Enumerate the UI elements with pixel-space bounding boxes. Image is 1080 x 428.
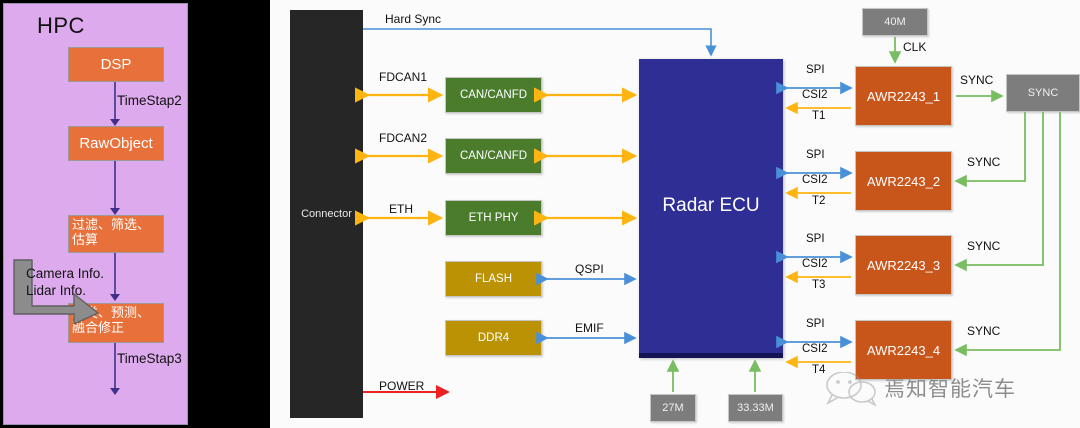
label-sync-3: SYNC [967, 239, 1000, 253]
label-emif: EMIF [575, 321, 604, 335]
wechat-logo-icon [822, 372, 878, 406]
block-awr2243-1: AWR2243_1 [855, 66, 952, 126]
edge-cluster-out-arrow [110, 388, 120, 395]
block-ddr4-label: DDR4 [478, 332, 509, 344]
edge-filter-cluster-arrow [110, 294, 120, 301]
label-fdcan2: FDCAN2 [379, 131, 427, 145]
label-sync-2: SYNC [967, 155, 1000, 169]
hpc-block-rawobject-label: RawObject [79, 135, 152, 152]
edge-dsp-rawobject-arrow [110, 119, 120, 126]
label-camera-info: Camera Info. [26, 266, 104, 281]
edge-rawobject-filter-arrow [110, 208, 120, 215]
block-awr2243-2: AWR2243_2 [855, 151, 952, 211]
block-awr2243-4-label: AWR2243_4 [867, 343, 940, 358]
hpc-panel: HPC DSP TimeStap2 RawObject 过滤、筛选、估算 聚类、… [3, 3, 188, 425]
edge-rawobject-filter [114, 161, 116, 211]
diagram-canvas: HPC DSP TimeStap2 RawObject 过滤、筛选、估算 聚类、… [0, 0, 1080, 428]
hpc-block-filter-label: 过滤、筛选、估算 [72, 217, 150, 247]
block-flash-label: FLASH [475, 273, 512, 285]
block-flash: FLASH [445, 261, 542, 297]
label-spi-2: SPI [806, 149, 825, 161]
edge-filter-cluster [114, 253, 116, 297]
label-sync-4: SYNC [967, 324, 1000, 338]
radar-ecu-block: Radar ECU [639, 59, 783, 358]
label-power: POWER [379, 379, 424, 393]
hpc-block-filter: 过滤、筛选、估算 [68, 215, 164, 253]
label-t2: T2 [812, 195, 825, 207]
label-t3: T3 [812, 279, 825, 291]
label-clk: CLK [903, 40, 926, 54]
radar-ecu-label: Radar ECU [662, 195, 759, 217]
label-spi-1: SPI [806, 64, 825, 76]
edge-label-timestap3: TimeStap3 [117, 351, 182, 366]
label-spi-3: SPI [806, 233, 825, 245]
block-osc-33m: 33.33M [728, 394, 783, 422]
block-osc-27m-label: 27M [662, 402, 683, 414]
block-osc-33m-label: 33.33M [737, 402, 774, 414]
label-csi2-2: CSI2 [802, 174, 828, 186]
connector-label: Connector [301, 208, 352, 220]
watermark-text: 焉知智能汽车 [884, 373, 1016, 403]
block-awr2243-4: AWR2243_4 [855, 320, 952, 380]
label-qspi: QSPI [575, 262, 604, 276]
block-sync-hub-label: SYNC [1028, 87, 1059, 99]
label-sync-1: SYNC [960, 73, 993, 87]
label-spi-4: SPI [806, 318, 825, 330]
block-awr2243-2-label: AWR2243_2 [867, 174, 940, 189]
block-can2-label: CAN/CANFD [460, 150, 527, 162]
hpc-block-dsp: DSP [68, 47, 164, 82]
block-osc-40m: 40M [862, 8, 928, 36]
block-can1-label: CAN/CANFD [460, 89, 527, 101]
label-hard-sync: Hard Sync [385, 12, 441, 26]
block-ddr4: DDR4 [445, 320, 542, 356]
label-csi2-1: CSI2 [802, 89, 828, 101]
edge-cluster-out [114, 343, 116, 391]
label-csi2-4: CSI2 [802, 343, 828, 355]
label-lidar-info: Lidar Info. [26, 283, 86, 298]
label-eth: ETH [389, 202, 413, 216]
block-can2: CAN/CANFD [445, 138, 542, 174]
block-awr2243-3: AWR2243_3 [855, 235, 952, 295]
block-osc-40m-label: 40M [884, 16, 905, 28]
block-ethphy-label: ETH PHY [469, 212, 519, 224]
block-can1: CAN/CANFD [445, 77, 542, 113]
edge-dsp-rawobject [114, 82, 116, 122]
label-t1: T1 [812, 110, 825, 122]
block-osc-27m: 27M [650, 394, 696, 422]
label-csi2-3: CSI2 [802, 258, 828, 270]
connector-block: Connector [290, 10, 363, 418]
edge-label-timestap2: TimeStap2 [117, 93, 182, 108]
hpc-block-dsp-label: DSP [101, 56, 132, 73]
hpc-block-rawobject: RawObject [68, 126, 164, 161]
block-ethphy: ETH PHY [445, 200, 542, 236]
label-fdcan1: FDCAN1 [379, 70, 427, 84]
block-sync-hub: SYNC [1006, 74, 1080, 112]
block-awr2243-3-label: AWR2243_3 [867, 258, 940, 273]
hpc-title: HPC [37, 13, 85, 39]
block-awr2243-1-label: AWR2243_1 [867, 89, 940, 104]
